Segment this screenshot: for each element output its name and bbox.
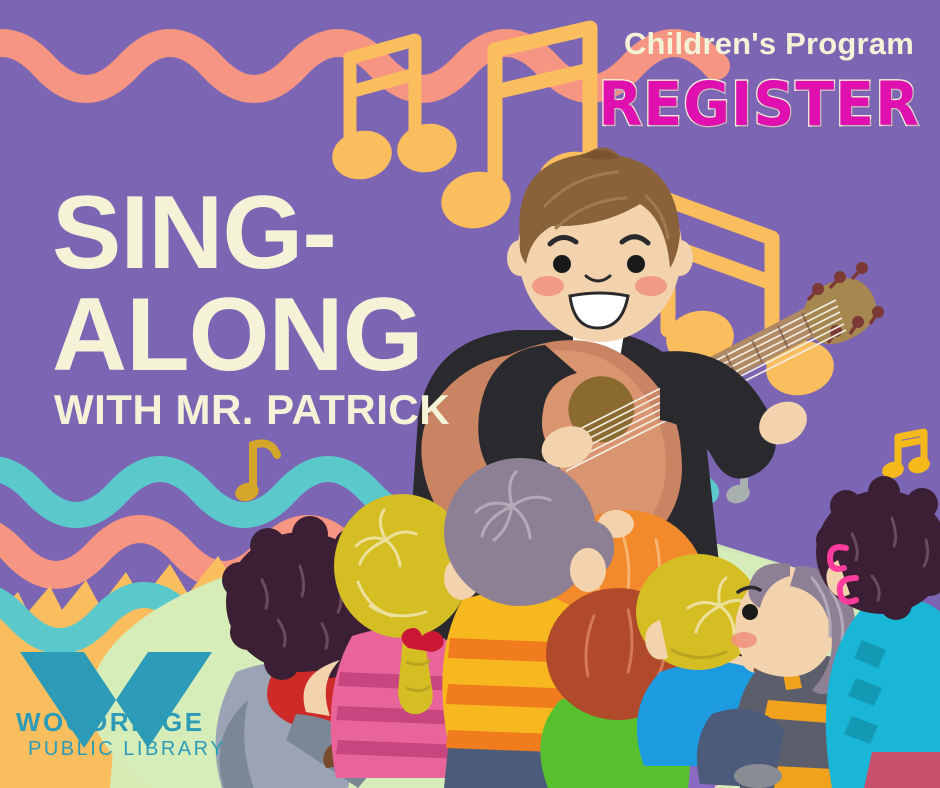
library-logo-subtitle: PUBLIC LIBRARY: [28, 738, 226, 761]
page-title-line2: ALONG: [52, 286, 423, 386]
page-title-line1: SING-: [52, 184, 336, 284]
page-subtitle: WITH MR. PATRICK: [54, 386, 450, 434]
library-logo-name: WOODRIDGE: [16, 707, 205, 738]
register-cta[interactable]: REGISTER: [598, 70, 920, 140]
sing-along-poster: Children's Program REGISTER SING- ALONG …: [0, 0, 940, 788]
program-eyebrow: Children's Program: [624, 26, 914, 62]
